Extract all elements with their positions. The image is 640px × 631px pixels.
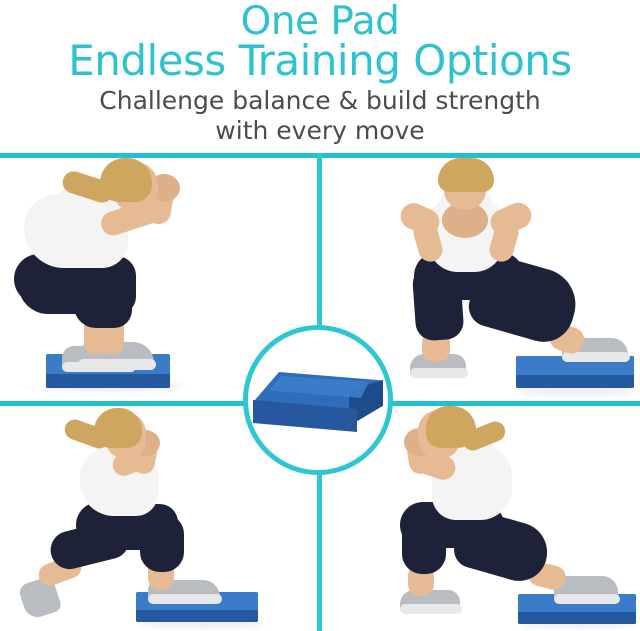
- pad-front-face: [518, 612, 636, 624]
- shoe-front-sole: [78, 359, 156, 370]
- header: One Pad Endless Training Options Challen…: [0, 0, 640, 155]
- pad-front-face: [46, 374, 170, 388]
- shoe-planted-sole: [410, 368, 468, 378]
- title-line-2: Endless Training Options: [0, 40, 640, 82]
- pad-front-face: [516, 375, 634, 388]
- shoe-front-sole: [148, 594, 222, 604]
- pad-front-face: [136, 610, 258, 622]
- promo-graphic: One Pad Endless Training Options Challen…: [0, 0, 640, 631]
- subtitle-line-2: with every move: [0, 118, 640, 143]
- hair: [438, 158, 494, 192]
- shoe-rear-sole: [554, 594, 620, 604]
- shoe-front-sole: [400, 604, 462, 614]
- emblem-balance-pad: [253, 372, 383, 432]
- center-emblem: [243, 325, 393, 475]
- subtitle-line-1: Challenge balance & build strength: [0, 88, 640, 113]
